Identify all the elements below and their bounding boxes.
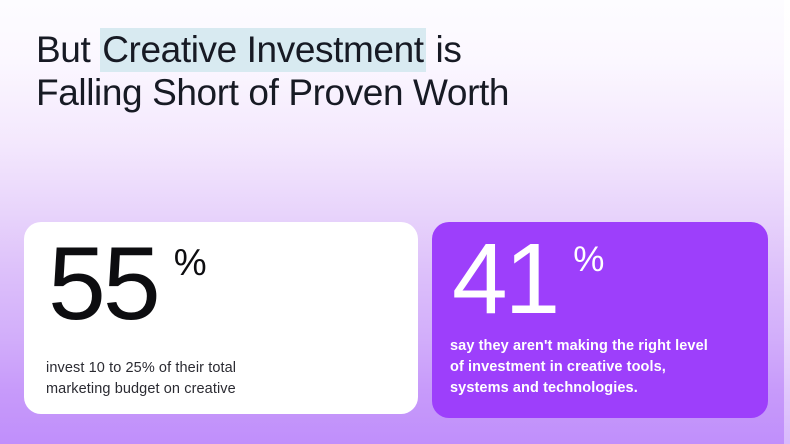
stat-description-41: say they aren't making the right level o…	[450, 336, 748, 399]
slide-canvas: But Creative Investment is Falling Short…	[0, 0, 790, 444]
stat-description-41-line-3: systems and technologies.	[450, 378, 748, 399]
stat-description-55-line-2: marketing budget on creative	[46, 379, 396, 400]
stat-number-55: 55	[48, 236, 158, 334]
stat-description-41-line-2: of investment in creative tools,	[450, 357, 748, 378]
stat-figure-55: 55 %	[46, 236, 396, 334]
stat-card-41: 41 % say they aren't making the right le…	[432, 222, 768, 418]
page-title: But Creative Investment is Falling Short…	[36, 28, 676, 114]
stat-card-55: 55 % invest 10 to 25% of their total mar…	[24, 222, 418, 414]
headline-text-after: is	[426, 29, 462, 70]
stat-number-41: 41	[452, 232, 557, 326]
percent-symbol-41: %	[573, 242, 604, 277]
headline-line-1: But Creative Investment is	[36, 28, 676, 71]
stat-description-55-line-1: invest 10 to 25% of their total	[46, 358, 396, 379]
stat-figure-41: 41 %	[450, 232, 748, 326]
percent-symbol-55: %	[174, 244, 207, 281]
right-edge-band	[784, 0, 790, 444]
stat-description-55: invest 10 to 25% of their total marketin…	[46, 358, 396, 400]
stat-description-41-line-1: say they aren't making the right level	[450, 336, 748, 357]
headline-line-2: Falling Short of Proven Worth	[36, 71, 676, 114]
headline-text-before: But	[36, 29, 100, 70]
headline-highlight: Creative Investment	[100, 28, 425, 72]
